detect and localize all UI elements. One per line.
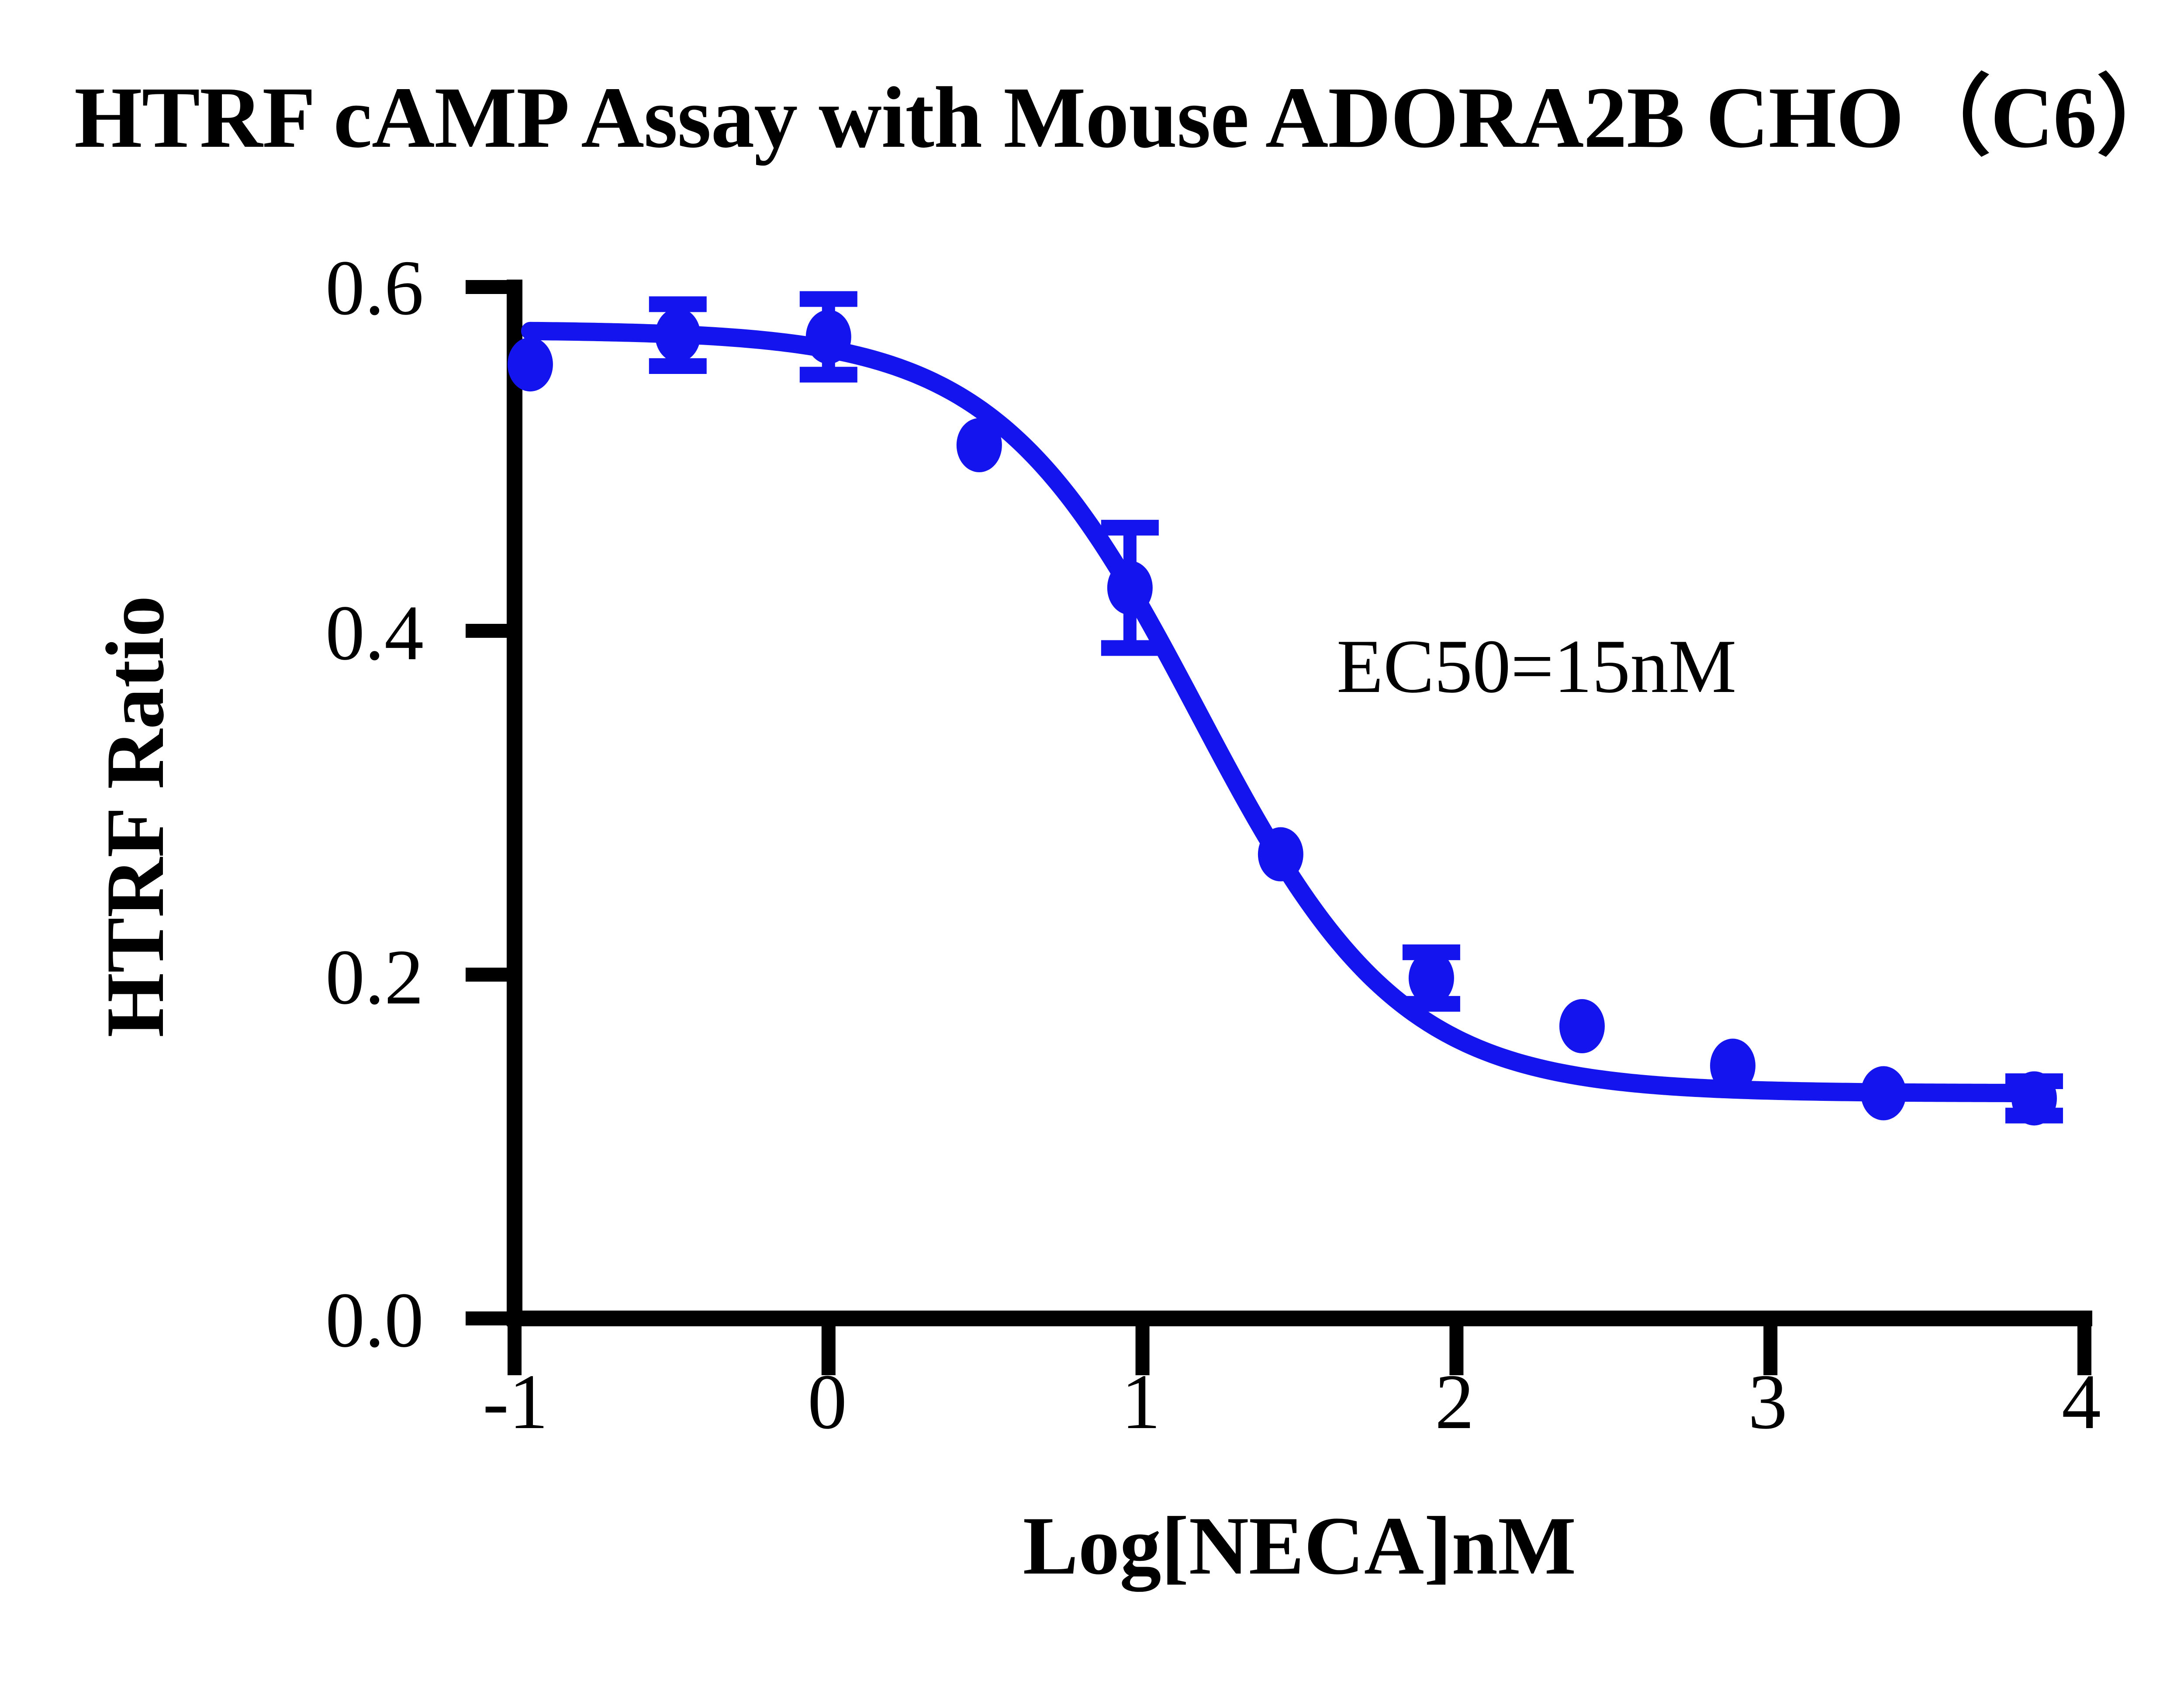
- y-tick-0.2: [466, 968, 515, 982]
- x-axis-ticks: [508, 1326, 2091, 1375]
- data-point-marker: [1559, 999, 1605, 1053]
- data-point-marker: [655, 308, 701, 362]
- data-point-marker: [2011, 1071, 2057, 1125]
- data-point-marker: [508, 337, 553, 391]
- x-tick-2: [1449, 1326, 1463, 1375]
- y-tick-0.6: [466, 280, 515, 294]
- data-point-marker: [1861, 1066, 1906, 1121]
- plot-area: [0, 0, 2184, 1695]
- x-tick-0: [822, 1326, 836, 1375]
- data-point-marker: [1258, 827, 1303, 882]
- y-axis-spine: [507, 280, 522, 1326]
- y-tick-0.0: [466, 1311, 515, 1325]
- fit-curve-path: [530, 331, 2034, 1093]
- error-bars: [649, 299, 2063, 1116]
- y-tick-0.4: [466, 624, 515, 638]
- x-tick--1: [508, 1326, 522, 1375]
- x-tick-4: [2077, 1326, 2091, 1375]
- x-tick-3: [1763, 1326, 1777, 1375]
- data-point-marker: [1710, 1039, 1755, 1093]
- data-point-marker: [806, 310, 851, 364]
- x-tick-1: [1136, 1326, 1150, 1375]
- data-points: [508, 308, 2057, 1125]
- x-axis-spine: [507, 1311, 2092, 1326]
- data-point-marker: [1409, 951, 1454, 1005]
- data-point-marker: [1107, 561, 1153, 615]
- data-point-marker: [957, 418, 1002, 472]
- chart-figure: HTRF cAMP Assay with Mouse ADORA2B CHO（C…: [0, 0, 2184, 1695]
- axes-group: [507, 280, 2092, 1326]
- fit-curve: [530, 331, 2034, 1093]
